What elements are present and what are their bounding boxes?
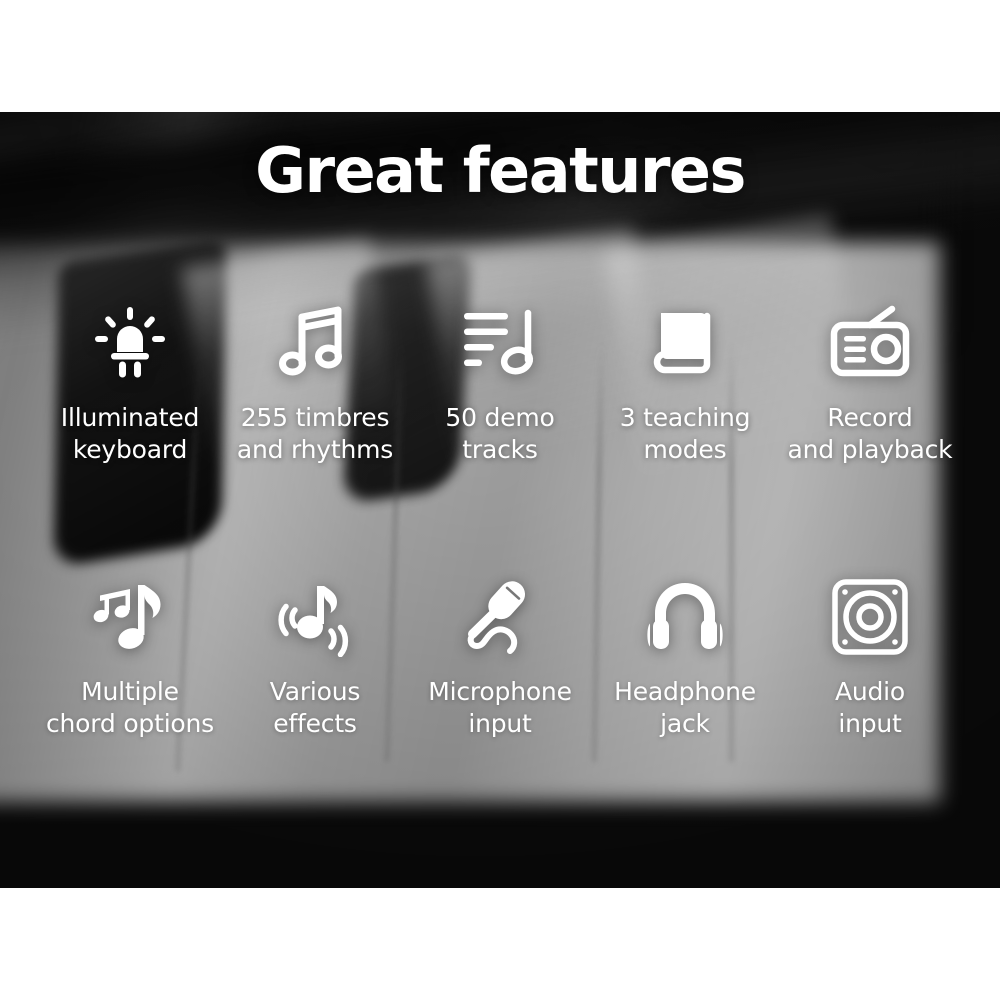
beamed-notes-icon [272, 300, 358, 386]
feature-item-demo-tracks: 50 demo tracks [408, 300, 593, 466]
feature-item-chord-options: Multiple chord options [38, 574, 223, 740]
book-icon [642, 300, 728, 386]
light-bulb-icon [87, 300, 173, 386]
note-vibration-icon [272, 574, 358, 660]
feature-item-headphone-jack: Headphone jack [593, 574, 778, 740]
feature-label: Record and playback [788, 402, 953, 466]
feature-item-various-effects: Various effects [223, 574, 408, 740]
feature-label: Various effects [270, 676, 360, 740]
feature-label: Microphone input [428, 676, 572, 740]
speaker-icon [827, 574, 913, 660]
music-notes-icon [87, 574, 173, 660]
feature-item-teaching-modes: 3 teaching modes [593, 300, 778, 466]
feature-item-timbres-rhythms: 255 timbres and rhythms [223, 300, 408, 466]
feature-label: Illuminated keyboard [61, 402, 199, 466]
headphones-icon [642, 574, 728, 660]
feature-item-microphone-input: Microphone input [408, 574, 593, 740]
playlist-note-icon [457, 300, 543, 386]
feature-label: Multiple chord options [46, 676, 214, 740]
feature-label: 50 demo tracks [445, 402, 554, 466]
feature-item-audio-input: Audio input [778, 574, 963, 740]
radio-icon [827, 300, 913, 386]
microphone-icon [457, 574, 543, 660]
feature-label: Audio input [835, 676, 905, 740]
feature-label: 255 timbres and rhythms [237, 402, 393, 466]
feature-item-record-playback: Record and playback [778, 300, 963, 466]
feature-label: Headphone jack [614, 676, 756, 740]
feature-row-top: Illuminated keyboard 255 timbres and rhy… [0, 300, 1000, 466]
feature-item-illuminated-keyboard: Illuminated keyboard [38, 300, 223, 466]
feature-label: 3 teaching modes [620, 402, 751, 466]
product-feature-banner: Great features I [0, 0, 1000, 1000]
feature-row-bottom: Multiple chord options [0, 574, 1000, 740]
page-title: Great features [0, 140, 1000, 202]
